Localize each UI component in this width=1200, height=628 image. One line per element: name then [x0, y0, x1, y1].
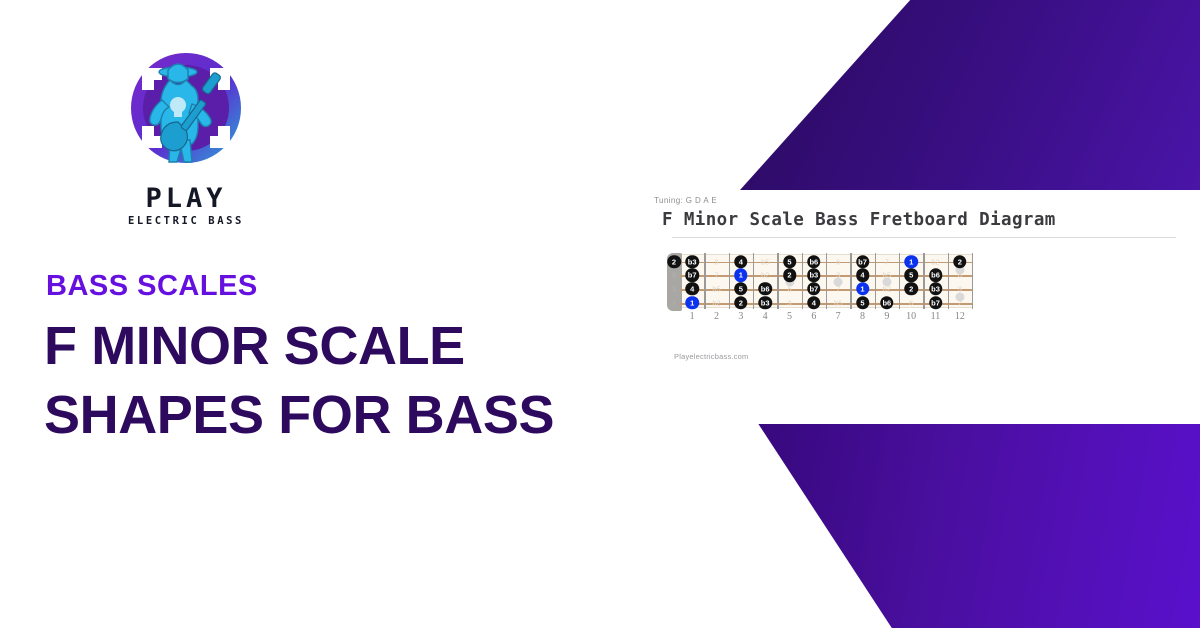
title-divider [672, 237, 1176, 238]
note-marker-f2-E: b2 [712, 298, 720, 307]
note-marker-f7-A: 7 [836, 284, 840, 293]
note-marker-f5-A: 6 [787, 284, 791, 293]
note-marker-f5-E: 3 [787, 298, 791, 307]
note-marker-f2-D: 7 [714, 271, 718, 280]
logo-subtitle-text: ELECTRIC BASS [96, 214, 276, 228]
fret-number-2: 2 [714, 311, 719, 322]
fret-wire-7 [850, 253, 851, 309]
note-marker-f1-E: 1 [685, 296, 699, 310]
fretboard: 2637b3b74137b5b24152b5b2b6b35263b6b3b746… [680, 254, 1188, 326]
brand-logo: PLAY ELECTRIC BASS [96, 42, 276, 228]
fret-wire-5 [802, 253, 803, 309]
fret-number-11: 11 [931, 311, 941, 322]
note-marker-f11-D: b6 [929, 268, 943, 282]
logo-play-text: PLAY [96, 184, 276, 214]
fret-number-5: 5 [787, 311, 792, 322]
page-title-line-1: F MINOR SCALE [44, 312, 684, 381]
note-marker-f12-A: 3 [958, 284, 962, 293]
note-marker-f8-A: 1 [856, 282, 870, 296]
note-marker-f3-A: 5 [734, 282, 748, 296]
fret-wire-2 [729, 253, 730, 309]
note-marker-f6-D: b3 [807, 268, 821, 282]
note-marker-f4-E: b3 [758, 296, 772, 310]
note-marker-f10-D: 5 [904, 268, 918, 282]
open-string-marker-G: 2 [667, 255, 681, 269]
note-marker-f7-D: 3 [836, 271, 840, 280]
decorative-wedge-bottom-right [740, 424, 1200, 628]
fret-number-12: 12 [955, 311, 965, 322]
open-string-marker-A: 3 [672, 284, 676, 293]
fret-wire-8 [875, 253, 876, 309]
fret-wire-10 [923, 253, 924, 309]
note-marker-f8-D: 4 [856, 268, 870, 282]
note-marker-f4-D: b2 [761, 271, 769, 280]
note-marker-f9-D: b5 [883, 271, 891, 280]
note-marker-f10-E: 6 [909, 298, 913, 307]
note-marker-f10-G: 1 [904, 255, 918, 269]
fret-number-3: 3 [738, 311, 743, 322]
note-marker-f1-D: b7 [685, 268, 699, 282]
fret-number-1: 1 [690, 311, 695, 322]
note-marker-f12-G: 2 [953, 255, 967, 269]
note-marker-f2-A: b5 [712, 284, 720, 293]
note-marker-f3-D: 1 [734, 268, 748, 282]
fret-wire-12 [972, 253, 973, 309]
fret-wire-6 [826, 253, 827, 309]
eyebrow-label: BASS SCALES [46, 270, 258, 303]
open-string-marker-E: 7 [672, 298, 676, 307]
fret-number-row: 123456789101112 [680, 308, 1188, 326]
note-marker-f6-A: b7 [807, 282, 821, 296]
page-title-line-2: SHAPES FOR BASS [44, 381, 684, 450]
tuning-label: Tuning: G D A E [654, 196, 1188, 205]
fret-number-9: 9 [884, 311, 889, 322]
note-marker-f5-G: 5 [783, 255, 797, 269]
fret-number-4: 4 [763, 311, 768, 322]
note-marker-f8-G: b7 [856, 255, 870, 269]
fret-number-6: 6 [811, 311, 816, 322]
page-title: F MINOR SCALE SHAPES FOR BASS [44, 312, 684, 450]
fret-wire-1 [704, 253, 705, 309]
note-marker-f9-E: b6 [880, 296, 894, 310]
fret-wire-3 [753, 253, 754, 309]
note-marker-f9-G: 7 [885, 257, 889, 266]
note-marker-f11-G: b2 [931, 257, 939, 266]
fret-wire-4 [777, 253, 778, 309]
note-marker-f6-E: 4 [807, 296, 821, 310]
note-marker-f4-G: b5 [761, 257, 769, 266]
note-marker-f6-G: b6 [807, 255, 821, 269]
fret-wire-11 [948, 253, 949, 309]
note-marker-f12-E: 7 [958, 298, 962, 307]
note-marker-f11-A: b3 [929, 282, 943, 296]
credit-text: Playelectricbass.com [674, 352, 1188, 361]
fret-number-7: 7 [836, 311, 841, 322]
fret-wire-9 [899, 253, 900, 309]
note-marker-f5-D: 2 [783, 268, 797, 282]
note-marker-f3-E: 2 [734, 296, 748, 310]
fretboard-diagram-card: Tuning: G D A E F Minor Scale Bass Fretb… [648, 196, 1188, 361]
note-marker-f2-G: 3 [714, 257, 718, 266]
note-marker-f1-G: b3 [685, 255, 699, 269]
note-marker-f11-E: b7 [929, 296, 943, 310]
note-marker-f7-G: 6 [836, 257, 840, 266]
note-marker-f7-E: b5 [834, 298, 842, 307]
note-marker-f4-A: b6 [758, 282, 772, 296]
note-marker-f1-A: 4 [685, 282, 699, 296]
note-marker-f8-E: 5 [856, 296, 870, 310]
bassist-circle-logo-icon [112, 42, 260, 182]
note-marker-f10-A: 2 [904, 282, 918, 296]
note-marker-f9-A: b2 [883, 284, 891, 293]
fret-number-10: 10 [906, 311, 916, 322]
open-string-marker-D: 6 [672, 271, 676, 280]
decorative-wedge-top-right [740, 0, 1200, 190]
note-marker-f12-D: 6 [958, 271, 962, 280]
diagram-title: F Minor Scale Bass Fretboard Diagram [662, 210, 1188, 230]
fretboard-surface: 2637b3b74137b5b24152b5b2b6b35263b6b3b746… [680, 254, 972, 308]
note-marker-f3-G: 4 [734, 255, 748, 269]
fret-number-8: 8 [860, 311, 865, 322]
